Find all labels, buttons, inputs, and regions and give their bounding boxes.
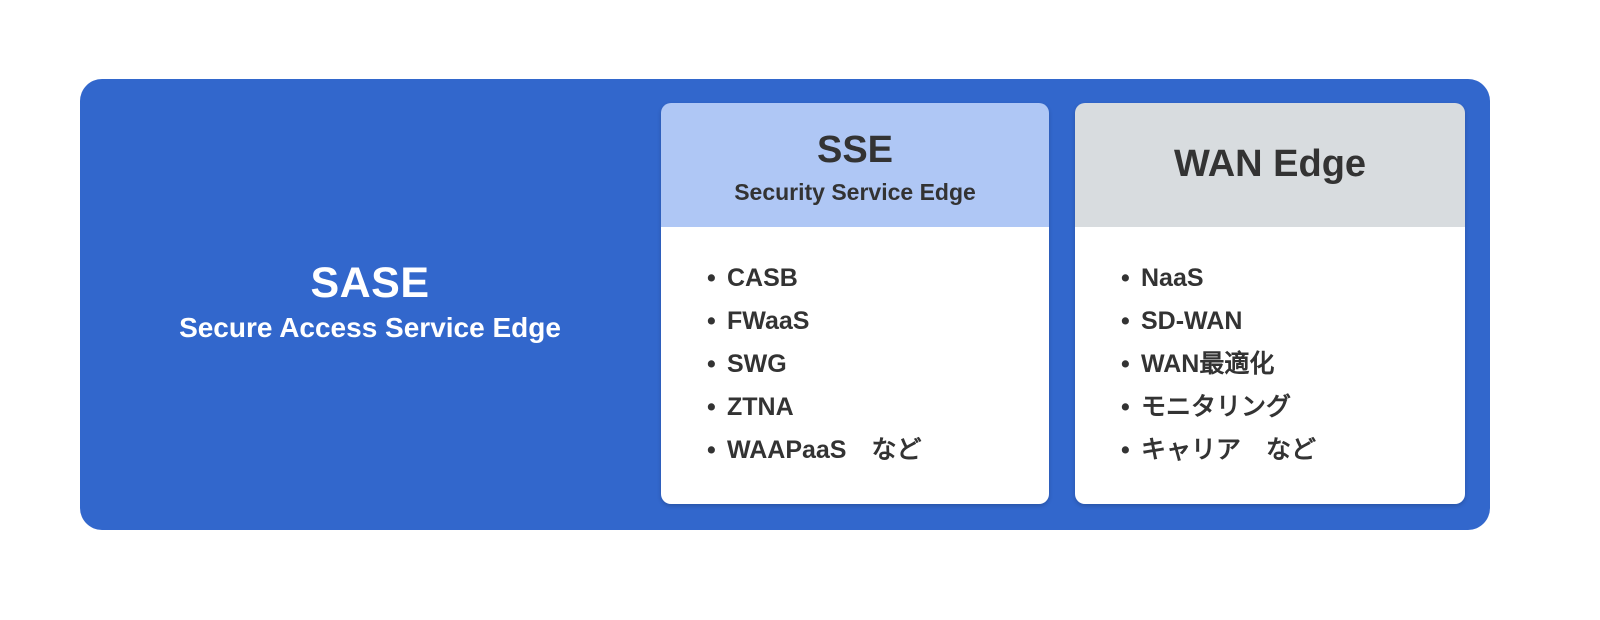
wan-edge-card-header: WAN Edge <box>1075 103 1465 227</box>
list-item-label: モニタリング <box>1141 386 1291 429</box>
list-item-label: FWaaS <box>727 300 809 343</box>
sase-title: SASE <box>310 259 429 307</box>
list-item-label: CASB <box>727 257 798 300</box>
list-item: • WAN最適化 <box>1075 343 1465 386</box>
sse-card-header: SSE Security Service Edge <box>661 103 1049 227</box>
bullet-dot-icon: • <box>707 257 727 300</box>
sse-card-subtitle: Security Service Edge <box>734 179 976 207</box>
list-item: • FWaaS <box>661 300 1049 343</box>
sse-card-title: SSE <box>817 129 893 173</box>
sse-card-body: • CASB • FWaaS • SWG • ZTNA <box>661 227 1049 504</box>
diagram-canvas: SASE Secure Access Service Edge SSE Secu… <box>0 0 1600 620</box>
list-item: • キャリア など <box>1075 429 1465 472</box>
list-item-label: NaaS <box>1141 257 1204 300</box>
bullet-dot-icon: • <box>1121 386 1141 429</box>
sase-outer-panel: SASE Secure Access Service Edge SSE Secu… <box>80 79 1490 530</box>
sse-card: SSE Security Service Edge • CASB • FWaaS… <box>661 103 1049 504</box>
bullet-dot-icon: • <box>707 386 727 429</box>
bullet-dot-icon: • <box>707 429 727 472</box>
list-item: • SD-WAN <box>1075 300 1465 343</box>
list-item-label: ZTNA <box>727 386 794 429</box>
list-item: • モニタリング <box>1075 386 1465 429</box>
list-item: • SWG <box>661 343 1049 386</box>
list-item-label: WAAPaaS など <box>727 429 921 472</box>
list-item-label: WAN最適化 <box>1141 343 1274 386</box>
wan-edge-bullet-list: • NaaS • SD-WAN • WAN最適化 • モニタリング <box>1075 257 1465 472</box>
bullet-dot-icon: • <box>1121 300 1141 343</box>
list-item-label: キャリア など <box>1141 429 1316 472</box>
list-item: • WAAPaaS など <box>661 429 1049 472</box>
list-item: • CASB <box>661 257 1049 300</box>
sase-subtitle: Secure Access Service Edge <box>179 311 561 345</box>
wan-edge-card: WAN Edge • NaaS • SD-WAN • WAN最適化 <box>1075 103 1465 504</box>
wan-edge-card-body: • NaaS • SD-WAN • WAN最適化 • モニタリング <box>1075 227 1465 504</box>
list-item-label: SD-WAN <box>1141 300 1242 343</box>
bullet-dot-icon: • <box>707 343 727 386</box>
sase-label-block: SASE Secure Access Service Edge <box>80 79 660 530</box>
bullet-dot-icon: • <box>1121 257 1141 300</box>
list-item: • NaaS <box>1075 257 1465 300</box>
bullet-dot-icon: • <box>1121 429 1141 472</box>
list-item-label: SWG <box>727 343 787 386</box>
sse-bullet-list: • CASB • FWaaS • SWG • ZTNA <box>661 257 1049 472</box>
wan-edge-card-title: WAN Edge <box>1174 143 1366 187</box>
bullet-dot-icon: • <box>1121 343 1141 386</box>
list-item: • ZTNA <box>661 386 1049 429</box>
bullet-dot-icon: • <box>707 300 727 343</box>
